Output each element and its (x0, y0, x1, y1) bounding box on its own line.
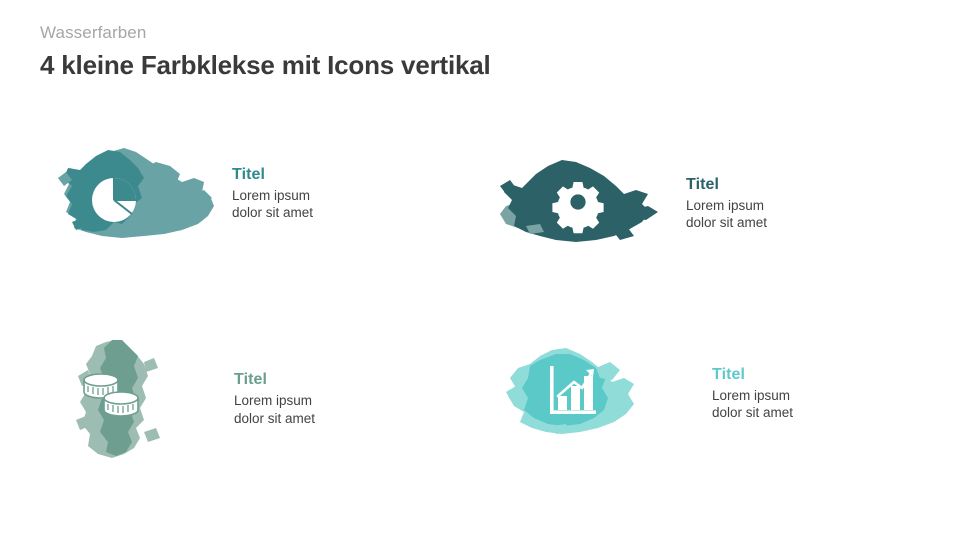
watercolor-blob-4-shape (500, 338, 670, 448)
item-title: Titel (232, 165, 313, 185)
pie-chart-icon (92, 178, 136, 222)
content-item-4[interactable]: Titel Lorem ipsum dolor sit amet (500, 338, 793, 448)
slide-canvas: Wasserfarben 4 kleine Farbklekse mit Ico… (0, 0, 960, 540)
watercolor-blob-4 (500, 338, 670, 448)
content-item-4-text: Titel Lorem ipsum dolor sit amet (704, 365, 793, 422)
content-item-3[interactable]: Titel Lorem ipsum dolor sit amet (60, 336, 315, 461)
content-item-3-text: Titel Lorem ipsum dolor sit amet (226, 370, 315, 427)
item-body: Lorem ipsum dolor sit amet (712, 387, 793, 422)
page-title: 4 kleine Farbklekse mit Icons vertikal (40, 50, 920, 80)
content-item-1-text: Titel Lorem ipsum dolor sit amet (224, 165, 313, 222)
watercolor-blob-1 (52, 138, 222, 248)
watercolor-blob-3-shape (60, 336, 190, 461)
content-item-2[interactable]: Titel Lorem ipsum dolor sit amet (492, 148, 767, 258)
watercolor-blob-3 (60, 336, 190, 461)
item-body: Lorem ipsum dolor sit amet (686, 197, 767, 232)
watercolor-blob-1-shape (52, 138, 222, 248)
content-item-1[interactable]: Titel Lorem ipsum dolor sit amet (52, 138, 313, 248)
slide-eyebrow: Wasserfarben (40, 22, 920, 44)
gear-icon (552, 182, 603, 233)
item-title: Titel (234, 370, 315, 390)
content-item-2-text: Titel Lorem ipsum dolor sit amet (678, 175, 767, 232)
item-body: Lorem ipsum dolor sit amet (232, 187, 313, 222)
item-title: Titel (712, 365, 793, 385)
item-body: Lorem ipsum dolor sit amet (234, 392, 315, 427)
watercolor-blob-2 (492, 148, 662, 258)
item-title: Titel (686, 175, 767, 195)
slide-header: Wasserfarben 4 kleine Farbklekse mit Ico… (40, 22, 920, 80)
watercolor-blob-2-shape (492, 148, 662, 258)
